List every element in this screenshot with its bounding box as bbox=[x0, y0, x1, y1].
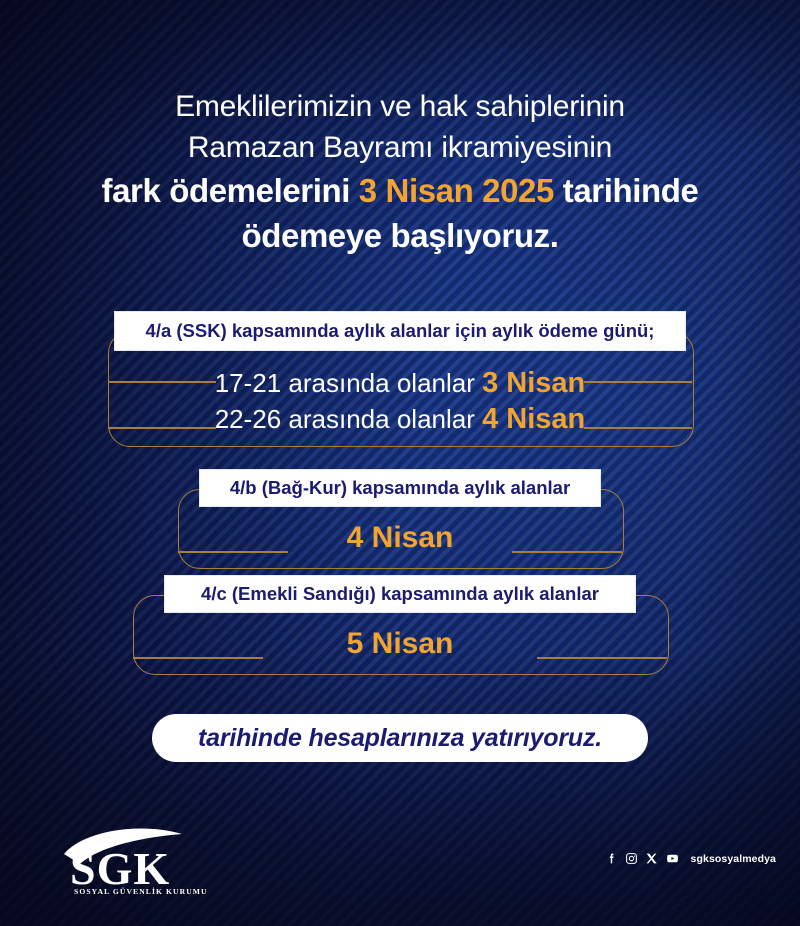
x-twitter-icon[interactable] bbox=[645, 852, 658, 865]
box-4b-date: 4 Nisan bbox=[0, 521, 800, 555]
headline-line-1: Emeklilerimizin ve hak sahiplerinin bbox=[0, 86, 800, 127]
headline-block: Emeklilerimizin ve hak sahiplerinin Rama… bbox=[0, 86, 800, 258]
facebook-icon[interactable] bbox=[605, 852, 618, 865]
sgk-logo: SGK SOSYAL GÜVENLİK KURUMU bbox=[58, 824, 238, 898]
closing-text: tarihinde hesaplarınıza yatırıyoruz. bbox=[198, 724, 602, 753]
closing-pill: tarihinde hesaplarınıza yatırıyoruz. bbox=[152, 714, 648, 762]
box-4a-chip-label: 4/a (SSK) kapsamında aylık alanlar için … bbox=[146, 320, 655, 342]
headline-line-4: ödemeye başlıyoruz. bbox=[0, 213, 800, 258]
box-4a-row-2: 22-26 arasında olanlar 4 Nisan bbox=[0, 403, 800, 436]
box-4a-row-1-date: 3 Nisan bbox=[482, 367, 585, 399]
box-4a-row-2-date: 4 Nisan bbox=[482, 403, 585, 435]
box-4a-row-1: 17-21 arasında olanlar 3 Nisan bbox=[0, 367, 800, 400]
social-handle: sgksosyalmedya bbox=[691, 853, 776, 865]
headline-line-3-post: tarihinde bbox=[554, 172, 699, 209]
box-4c-chip: 4/c (Emekli Sandığı) kapsamında aylık al… bbox=[165, 576, 635, 612]
box-4b-chip-label: 4/b (Bağ-Kur) kapsamında aylık alanlar bbox=[230, 477, 570, 499]
svg-text:SOSYAL GÜVENLİK KURUMU: SOSYAL GÜVENLİK KURUMU bbox=[74, 886, 208, 896]
headline-payment-date: 3 Nisan 2025 bbox=[359, 172, 554, 209]
box-4c-chip-label: 4/c (Emekli Sandığı) kapsamında aylık al… bbox=[201, 583, 599, 605]
box-4c-date: 5 Nisan bbox=[0, 627, 800, 661]
headline-line-2: Ramazan Bayramı ikramiyesinin bbox=[0, 127, 800, 168]
youtube-icon[interactable] bbox=[665, 852, 680, 865]
box-4a-row-2-text: 22-26 arasında olanlar bbox=[215, 404, 482, 434]
box-4a-row-1-text: 17-21 arasında olanlar bbox=[215, 368, 482, 398]
social-bar: sgksosyalmedya bbox=[605, 852, 776, 865]
headline-line-3: fark ödemelerini 3 Nisan 2025 tarihinde bbox=[0, 168, 800, 213]
box-4a-chip: 4/a (SSK) kapsamında aylık alanlar için … bbox=[115, 312, 685, 350]
box-4b-chip: 4/b (Bağ-Kur) kapsamında aylık alanlar bbox=[200, 470, 600, 506]
instagram-icon[interactable] bbox=[625, 852, 638, 865]
headline-line-3-pre: fark ödemelerini bbox=[102, 172, 359, 209]
poster-canvas: Emeklilerimizin ve hak sahiplerinin Rama… bbox=[0, 0, 800, 926]
